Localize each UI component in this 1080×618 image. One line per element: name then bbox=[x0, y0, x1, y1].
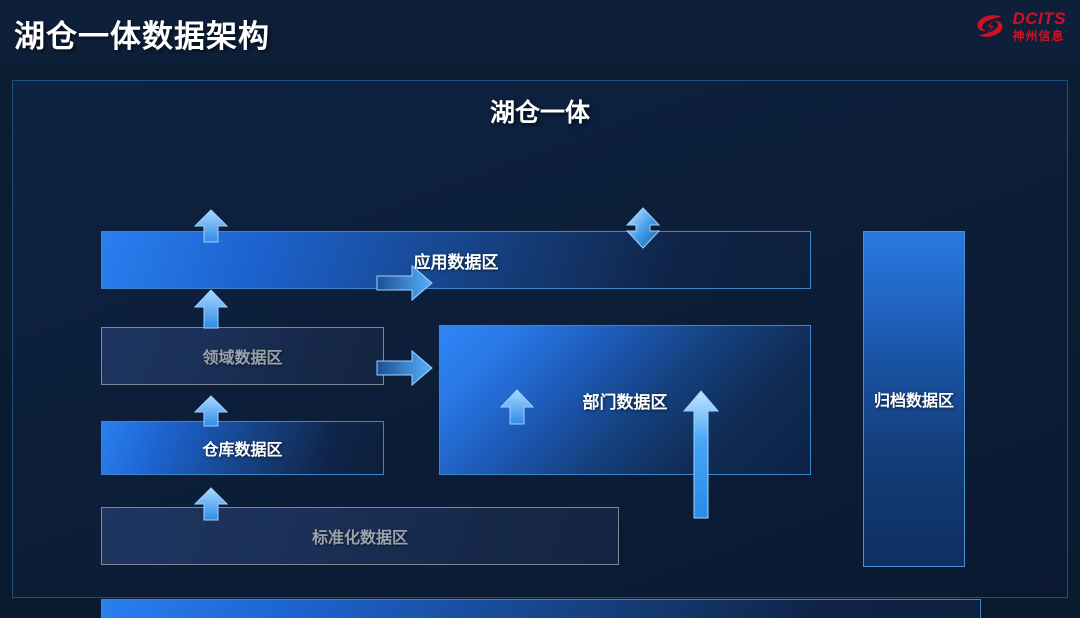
brand-logo: DCITS 神州信息 bbox=[973, 9, 1067, 43]
panel-title: 湖仓一体 bbox=[13, 93, 1067, 129]
arrow-warehouse-to-department bbox=[376, 348, 434, 388]
zone-standardized-data[interactable]: 标准化数据区 bbox=[101, 507, 619, 565]
zone-lake-data[interactable]: 湖数据区 bbox=[101, 599, 981, 618]
zone-domain-data[interactable]: 领域数据区 bbox=[101, 327, 384, 385]
zone-warehouse-data[interactable]: 仓库数据区 bbox=[101, 421, 384, 475]
arrow-lake-to-department bbox=[679, 389, 723, 519]
arrow-lake-to-standardized bbox=[189, 487, 233, 521]
brand-name-en: DCITS bbox=[1013, 10, 1067, 27]
architecture-panel: 湖仓一体 应用数据区 领域数据区 仓库数据区 标准化数据区 湖数据区 部门数据区… bbox=[12, 80, 1068, 598]
zone-archive-data[interactable]: 归档数据区 bbox=[863, 231, 965, 567]
arrow-domain-to-department bbox=[376, 263, 434, 303]
dcits-swirl-icon bbox=[973, 9, 1007, 43]
brand-name-cn: 神州信息 bbox=[1013, 30, 1067, 42]
slide-header: 湖仓一体数据架构 DCITS 神州信息 bbox=[0, 0, 1080, 63]
arrow-standardized-to-warehouse bbox=[189, 395, 233, 427]
arrow-standardized-to-department bbox=[495, 389, 539, 425]
brand-logo-text: DCITS 神州信息 bbox=[1013, 10, 1067, 42]
slide-canvas: 湖仓一体数据架构 DCITS 神州信息 湖仓一体 应用数据区 领域数据区 仓库数… bbox=[0, 0, 1080, 618]
arrow-domain-to-application bbox=[189, 289, 233, 329]
page-title: 湖仓一体数据架构 bbox=[14, 11, 270, 56]
arrow-department-application-bidirectional bbox=[621, 206, 665, 250]
arrow-warehouse-to-domain bbox=[189, 209, 233, 243]
